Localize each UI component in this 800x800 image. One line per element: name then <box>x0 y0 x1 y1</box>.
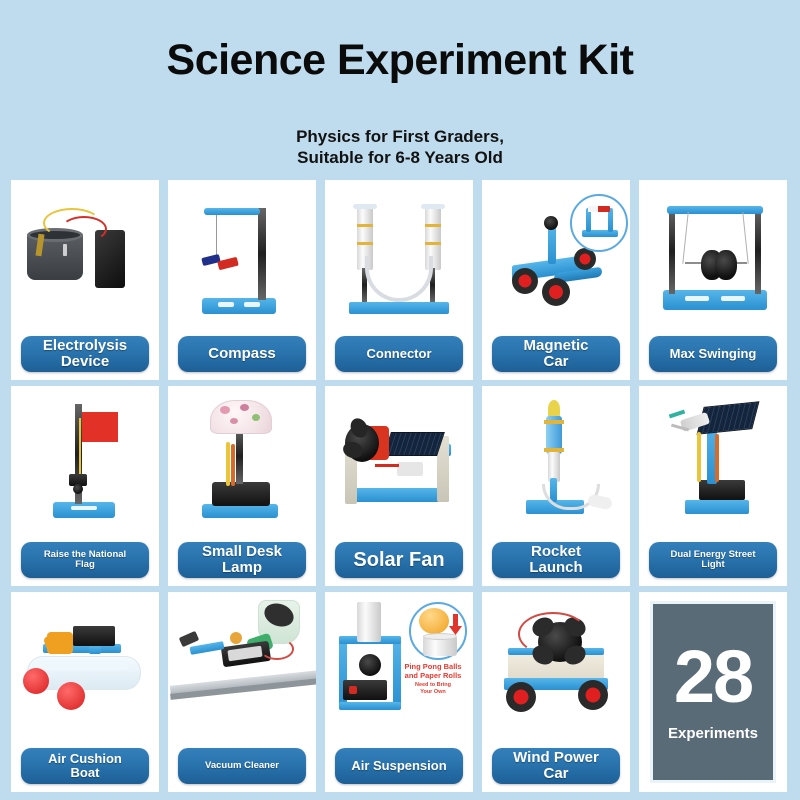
product-card-raise-the-national-flag[interactable]: Raise the National Flag <box>11 386 159 586</box>
page-title: Science Experiment Kit <box>0 36 800 85</box>
product-label: Electrolysis Device <box>21 336 149 372</box>
product-card-wind-power-car[interactable]: Wind Power Car <box>482 592 630 792</box>
product-label: Compass <box>178 336 306 372</box>
product-card-magnetic-car[interactable]: Magnetic Car <box>482 180 630 380</box>
product-label: Max Swinging <box>649 336 777 372</box>
product-card-electrolysis-device[interactable]: Electrolysis Device <box>11 180 159 380</box>
product-image-raise-the-national-flag <box>17 392 153 540</box>
experiment-count-number: 28 <box>674 642 752 712</box>
experiment-count-panel: 28 Experiments <box>639 592 787 792</box>
annotation-secondary: Need to Bring Your Own <box>395 682 471 696</box>
product-image-air-suspension: Ping Pong Balls and Paper Rolls Need to … <box>331 598 467 746</box>
page-subtitle: Physics for First Graders, Suitable for … <box>0 126 800 169</box>
product-card-vacuum-cleaner[interactable]: Vacuum Cleaner <box>168 592 316 792</box>
product-card-dual-energy-street-light[interactable]: Dual Energy Street Light <box>639 386 787 586</box>
experiment-count-label: Experiments <box>668 725 758 742</box>
product-label: Air Cushion Boat <box>21 748 149 784</box>
annotation-primary: Ping Pong Balls and Paper Rolls <box>395 662 471 681</box>
product-card-air-suspension[interactable]: Ping Pong Balls and Paper Rolls Need to … <box>325 592 473 792</box>
product-label: Connector <box>335 336 463 372</box>
product-label: Rocket Launch <box>492 542 620 578</box>
page-header: Science Experiment Kit Physics for First… <box>0 0 800 180</box>
product-image-small-desk-lamp <box>174 392 310 540</box>
product-card-small-desk-lamp[interactable]: Small Desk Lamp <box>168 386 316 586</box>
product-image-electrolysis-device <box>17 186 153 334</box>
product-image-magnetic-car <box>488 186 624 334</box>
product-image-solar-fan <box>331 392 467 540</box>
product-grid: Electrolysis Device Compass <box>11 180 789 792</box>
product-card-connector[interactable]: Connector <box>325 180 473 380</box>
product-label: Solar Fan <box>335 542 463 578</box>
product-image-connector <box>331 186 467 334</box>
product-card-rocket-launch[interactable]: Rocket Launch <box>482 386 630 586</box>
product-card-max-swinging[interactable]: Max Swinging <box>639 180 787 380</box>
product-image-compass <box>174 186 310 334</box>
product-label: Magnetic Car <box>492 336 620 372</box>
product-card-solar-fan[interactable]: Solar Fan <box>325 386 473 586</box>
product-image-wind-power-car <box>488 598 624 746</box>
product-image-dual-energy-street-light <box>645 392 781 540</box>
product-label: Small Desk Lamp <box>178 542 306 578</box>
product-image-air-cushion-boat <box>17 598 153 746</box>
product-label: Raise the National Flag <box>21 542 149 578</box>
product-image-rocket-launch <box>488 392 624 540</box>
product-label: Vacuum Cleaner <box>178 748 306 784</box>
product-card-air-cushion-boat[interactable]: Air Cushion Boat <box>11 592 159 792</box>
product-image-max-swinging <box>645 186 781 334</box>
product-label: Air Suspension <box>335 748 463 784</box>
product-label: Wind Power Car <box>492 748 620 784</box>
product-label: Dual Energy Street Light <box>649 542 777 578</box>
product-card-compass[interactable]: Compass <box>168 180 316 380</box>
product-image-vacuum-cleaner <box>174 598 310 746</box>
